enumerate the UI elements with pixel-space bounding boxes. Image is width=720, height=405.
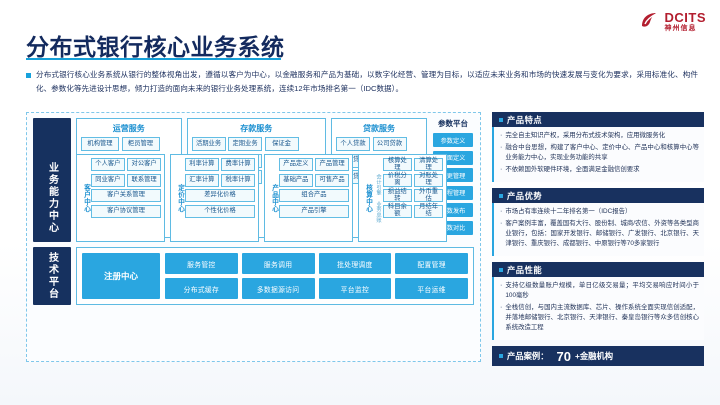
logo-cn-text: 神州信息 (665, 25, 707, 32)
center-accounting-sublabel: 会计引擎 业务总账 (373, 158, 383, 238)
page-title: 分布式银行核心业务系统 (26, 28, 285, 62)
tech-platform-panel: 注册中心 服务管控 服务调用 批处理调度 配置管理 分布式缓存 多数据源访问 平… (76, 247, 474, 305)
tech-btn-5[interactable]: 分布式缓存 (165, 278, 238, 299)
parameter-platform-title: 参数平台 (438, 118, 468, 129)
panel-bullet-square-icon (499, 268, 503, 272)
chip-price-4[interactable]: 税率计算 (221, 174, 255, 187)
tech-btn-3[interactable]: 批处理调度 (319, 253, 392, 274)
center-accounting: 核算中心 会计引擎 业务总账 核算处理 清算处理 价税分离 对账处理 损益结转 … (358, 154, 447, 242)
logo-en-text: DCITS (665, 11, 707, 24)
advantage-item: ·市场占有率连续十二年排名第一（IDC报告） (500, 207, 699, 217)
center-product-label: 产品中心 (268, 158, 279, 238)
list-dot-icon: · (500, 165, 502, 175)
title-underline (26, 58, 281, 60)
feature-item: ·完全自主知识产权，采用分布式技术架构，应用微服务化 (500, 131, 699, 141)
chip-price-2[interactable]: 费率计算 (221, 158, 255, 171)
chip-prod-5[interactable]: 组合产品 (279, 189, 349, 202)
panel-head-product-performance: 产品性能 (492, 262, 704, 277)
group-title-deposit: 存款服务 (192, 123, 321, 134)
advantage-text-1: 市场占有率连续十二年排名第一（IDC报告） (505, 207, 631, 217)
group-title-loan: 贷款服务 (336, 123, 422, 134)
chip-acct-3[interactable]: 价税分离 (383, 174, 412, 187)
slide-root: DCITS 神州信息 分布式银行核心业务系统 分布式银行核心业务系统从银行的整体… (0, 0, 720, 405)
list-dot-icon: · (500, 219, 502, 249)
chip-price-3[interactable]: 汇率计算 (185, 174, 219, 187)
chip-loan-2[interactable]: 公司贷款 (373, 137, 407, 151)
center-pricing: 定价中心 利率计算 费率计算 汇率计算 税率计算 差异化价格 个性化价格 (170, 154, 259, 242)
chip-acct-8[interactable]: 月结年结 (414, 205, 443, 218)
feature-item: ·融合中台思想，构建了客户中心、定价中心、产品中心和核算中心等业务能力中心，实现… (500, 143, 699, 163)
case-bullet-square-icon (499, 354, 503, 358)
chip-cust-4[interactable]: 联系管理 (127, 174, 161, 187)
case-number: 70 (557, 349, 571, 364)
center-customer-label: 客户中心 (80, 158, 91, 238)
advantage-item: ·客户案例丰富，覆盖国有大行、股份制、城商/农信、外资等各类型商业银行，包括：国… (500, 219, 699, 249)
chip-prod-3[interactable]: 基础产品 (279, 174, 313, 187)
panel-product-performance: 产品性能 ·支持亿级数量账户规模，单日亿级交易量；平均交易响应时间小于100毫秒… (492, 262, 704, 340)
bullet-square-icon (26, 73, 31, 78)
intro-text: 分布式银行核心业务系统从银行的整体视角出发，遵循以客户为中心，以金融服务和产品为… (36, 68, 698, 96)
chip-price-1[interactable]: 利率计算 (185, 158, 219, 171)
panel-title-product-performance: 产品性能 (507, 264, 542, 276)
chip-cust-5[interactable]: 客户关系管理 (91, 189, 161, 202)
chip-prod-6[interactable]: 产品引擎 (279, 205, 349, 218)
right-panels: 产品特点 ·完全自主知识产权，采用分布式技术架构，应用微服务化 ·融合中台思想，… (492, 112, 704, 366)
performance-text-1: 支持亿级数量账户规模，单日亿级交易量；平均交易响应时间小于100毫秒 (505, 281, 699, 301)
case-unit: +金融机构 (575, 350, 613, 362)
group-title-operations: 运营服务 (81, 123, 177, 134)
chip-acct-7[interactable]: 科目余额 (383, 205, 412, 218)
list-dot-icon: · (500, 131, 502, 141)
product-case-bar: 产品案例： 70 +金融机构 (492, 346, 704, 366)
tech-btn-4[interactable]: 配置管理 (395, 253, 468, 274)
panel-bullet-square-icon (499, 194, 503, 198)
panel-title-product-features: 产品特点 (507, 114, 542, 126)
chip-prod-2[interactable]: 产品管理 (315, 158, 349, 171)
tech-btn-6[interactable]: 多数据源访问 (242, 278, 315, 299)
performance-text-2: 全栈信创，与国内主流数据库、芯片、操作系统全面实现信创适配，并落地邮储银行、北京… (505, 303, 699, 333)
list-dot-icon: · (500, 281, 502, 301)
chip-cust-3[interactable]: 同业客户 (91, 174, 125, 187)
chip-acct-5[interactable]: 损益结转 (383, 189, 412, 202)
center-pricing-label: 定价中心 (174, 158, 185, 238)
tier-tech-platform: 技术平台 注册中心 服务管控 服务调用 批处理调度 配置管理 分布式缓存 多数据… (33, 247, 474, 305)
tier-business-capability: 业务能力中心 客户中心 个人客户 对公客户 同业客户 联系管理 客户关系管理 客… (33, 154, 474, 242)
panel-head-product-features: 产品特点 (492, 112, 704, 127)
tech-btn-8[interactable]: 平台运维 (395, 278, 468, 299)
chip-ops-1[interactable]: 机构管理 (81, 137, 119, 151)
chip-acct-2[interactable]: 清算处理 (414, 158, 443, 171)
performance-item: ·支持亿级数量账户规模，单日亿级交易量；平均交易响应时间小于100毫秒 (500, 281, 699, 301)
center-customer: 客户中心 个人客户 对公客户 同业客户 联系管理 客户关系管理 客户协议管理 (76, 154, 165, 242)
chip-loan-1[interactable]: 个人贷款 (336, 137, 370, 151)
tech-register-center[interactable]: 注册中心 (82, 253, 160, 299)
chip-dep-1[interactable]: 活期业务 (192, 137, 226, 151)
chip-price-5[interactable]: 差异化价格 (185, 189, 255, 202)
feature-text-1: 完全自主知识产权，采用分布式技术架构，应用微服务化 (505, 131, 665, 141)
chip-dep-2[interactable]: 定期业务 (228, 137, 262, 151)
chip-price-6[interactable]: 个性化价格 (185, 205, 255, 218)
panel-product-advantages: 产品优势 ·市场占有率连续十二年排名第一（IDC报告） ·客户案例丰富，覆盖国有… (492, 188, 704, 256)
list-dot-icon: · (500, 143, 502, 163)
list-dot-icon: · (500, 303, 502, 333)
panel-title-product-advantages: 产品优势 (507, 190, 542, 202)
dcits-logo-mark-icon (639, 10, 661, 32)
architecture-diagram: 产品服务 运营服务 机构管理 柜员管理 现金管理 凭证管理 风险管理 辅助交易 … (26, 112, 481, 362)
chip-acct-1[interactable]: 核算处理 (383, 158, 412, 171)
advantage-text-2: 客户案例丰富，覆盖国有大行、股份制、城商/农信、外资等各类型商业银行，包括：国家… (505, 219, 699, 249)
list-dot-icon: · (500, 207, 502, 217)
tier-label-tech-platform: 技术平台 (33, 247, 71, 305)
tech-btn-2[interactable]: 服务调用 (242, 253, 315, 274)
panel-bullet-square-icon (499, 118, 503, 122)
feature-item: ·不依赖国外软硬件环境，全面满足金融信创要求 (500, 165, 699, 175)
chip-cust-1[interactable]: 个人客户 (91, 158, 125, 171)
chip-dep-3[interactable]: 保证金 (265, 137, 299, 151)
chip-acct-4[interactable]: 对账处理 (414, 174, 443, 187)
case-label: 产品案例： (507, 350, 549, 362)
center-accounting-label: 核算中心 (362, 158, 373, 238)
param-btn-1[interactable]: 参数定义 (433, 133, 473, 147)
dcits-logo: DCITS 神州信息 (639, 10, 707, 32)
chip-ops-2[interactable]: 柜员管理 (122, 137, 160, 151)
feature-text-2: 融合中台思想，构建了客户中心、定价中心、产品中心和核算中心等业务能力中心，实现业… (505, 143, 699, 163)
chip-cust-2[interactable]: 对公客户 (127, 158, 161, 171)
chip-cust-6[interactable]: 客户协议管理 (91, 205, 161, 218)
intro-paragraph: 分布式银行核心业务系统从银行的整体视角出发，遵循以客户为中心，以金融服务和产品为… (26, 68, 698, 96)
chip-prod-4[interactable]: 可售产品 (315, 174, 349, 187)
chip-acct-6[interactable]: 外币重估 (414, 189, 443, 202)
center-product: 产品中心 产品定义 产品管理 基础产品 可售产品 组合产品 产品引擎 (264, 154, 353, 242)
feature-text-3: 不依赖国外软硬件环境，全面满足金融信创要求 (505, 165, 639, 175)
performance-item: ·全栈信创，与国内主流数据库、芯片、操作系统全面实现信创适配，并落地邮储银行、北… (500, 303, 699, 333)
tech-btn-1[interactable]: 服务管控 (165, 253, 238, 274)
tech-btn-7[interactable]: 平台监控 (319, 278, 392, 299)
panel-product-features: 产品特点 ·完全自主知识产权，采用分布式技术架构，应用微服务化 ·融合中台思想，… (492, 112, 704, 182)
tier-label-business-capability: 业务能力中心 (33, 154, 71, 242)
chip-prod-1[interactable]: 产品定义 (279, 158, 313, 171)
panel-head-product-advantages: 产品优势 (492, 188, 704, 203)
